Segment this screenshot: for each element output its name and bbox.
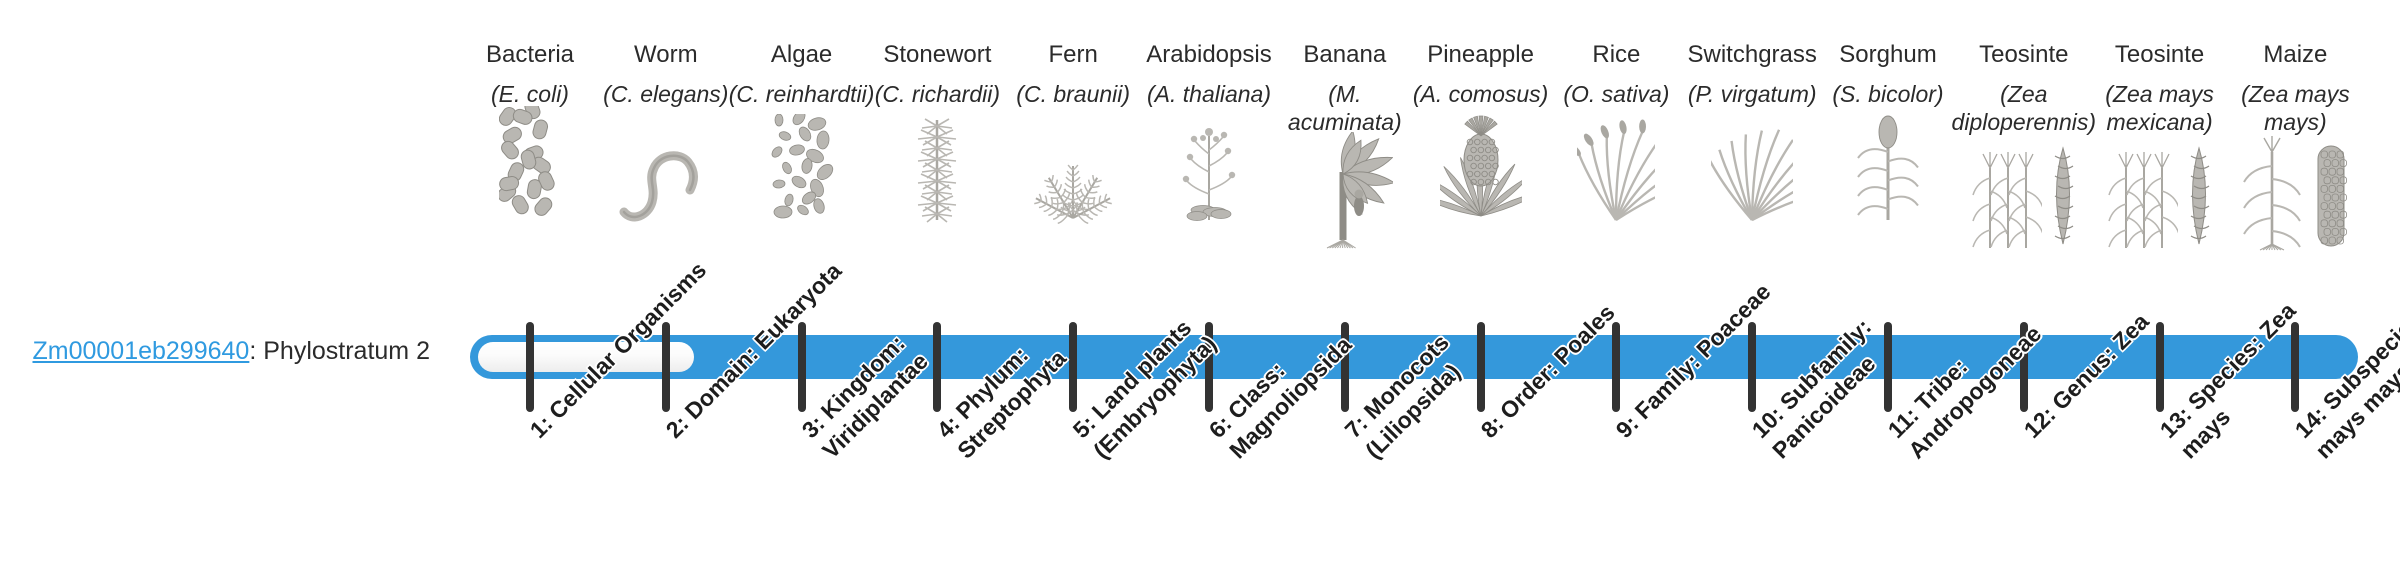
- species-common-name: Maize: [2220, 40, 2370, 70]
- species-column: Maize(Zea mays mays): [2220, 40, 2370, 252]
- species-common-name: Worm: [591, 40, 741, 70]
- species-column: Fern(C. braunii): [998, 40, 1148, 224]
- stonewort-illustration: [862, 114, 1012, 224]
- teosinte-ear-illustration: [2085, 142, 2235, 252]
- species-common-name: Fern: [998, 40, 1148, 70]
- algae-illustration: [727, 114, 877, 224]
- gene-separator: :: [249, 337, 263, 365]
- pineapple-illustration: [1406, 114, 1556, 224]
- species-common-name: Stonewort: [862, 40, 1012, 70]
- maize-ear-illustration: [2220, 142, 2370, 252]
- species-common-name: Sorghum: [1813, 40, 1963, 70]
- species-column: Rice(O. sativa): [1541, 40, 1691, 224]
- arabidopsis-illustration: [1134, 114, 1284, 224]
- species-scientific-name: (C. braunii): [998, 80, 1148, 108]
- nematode-illustration: [591, 114, 741, 224]
- species-column: Stonewort(C. richardii): [862, 40, 1012, 224]
- tick-mark: [1748, 322, 1756, 412]
- species-scientific-name: (S. bicolor): [1813, 80, 1963, 108]
- species-column: Teosinte(Zea mays mexicana): [2085, 40, 2235, 252]
- tick-mark: [798, 322, 806, 412]
- rice-illustration: [1541, 114, 1691, 224]
- teosinte-illustration: [1949, 142, 2099, 252]
- species-column: Sorghum(S. bicolor): [1813, 40, 1963, 224]
- species-scientific-name: (A. comosus): [1406, 80, 1556, 108]
- species-common-name: Arabidopsis: [1134, 40, 1284, 70]
- tick-mark: [2156, 322, 2164, 412]
- species-column: Banana(M. acuminata): [1270, 40, 1420, 252]
- rank-name: Species: Zea mays: [2175, 297, 2300, 463]
- species-common-name: Switchgrass: [1677, 40, 1827, 70]
- bacteria-illustration: [455, 114, 605, 224]
- species-common-name: Teosinte: [1949, 40, 2099, 70]
- species-scientific-name: (Zea mays mexicana): [2085, 80, 2235, 136]
- phylostratum-timeline: Zm00001eb299640: Phylostratum 2 Bacteria…: [0, 0, 2400, 580]
- species-column: Arabidopsis(A. thaliana): [1134, 40, 1284, 224]
- fern-illustration: [998, 114, 1148, 224]
- species-scientific-name: (P. virgatum): [1677, 80, 1827, 108]
- species-scientific-name: (C. richardii): [862, 80, 1012, 108]
- species-scientific-name: (A. thaliana): [1134, 80, 1284, 108]
- species-common-name: Algae: [727, 40, 877, 70]
- species-column: Algae(C. reinhardtii): [727, 40, 877, 224]
- gene-id-link[interactable]: Zm00001eb299640: [32, 337, 249, 365]
- phylostratum-value-text: Phylostratum 2: [263, 337, 430, 365]
- species-column: Pineapple(A. comosus): [1406, 40, 1556, 224]
- species-scientific-name: (C. reinhardtii): [727, 80, 877, 108]
- species-column: Switchgrass(P. virgatum): [1677, 40, 1827, 224]
- banana-illustration: [1270, 142, 1420, 252]
- species-column: Worm(C. elegans): [591, 40, 741, 224]
- tick-mark: [526, 322, 534, 412]
- species-scientific-name: (O. sativa): [1541, 80, 1691, 108]
- species-scientific-name: (Zea mays mays): [2220, 80, 2370, 136]
- species-common-name: Pineapple: [1406, 40, 1556, 70]
- species-common-name: Bacteria: [455, 40, 605, 70]
- tick-mark: [662, 322, 670, 412]
- species-column: Teosinte(Zea diploperennis): [1949, 40, 2099, 252]
- species-column: Bacteria(E. coli): [455, 40, 605, 224]
- species-common-name: Banana: [1270, 40, 1420, 70]
- tick-mark: [1612, 322, 1620, 412]
- species-scientific-name: (C. elegans): [591, 80, 741, 108]
- species-scientific-name: (E. coli): [455, 80, 605, 108]
- species-common-name: Teosinte: [2085, 40, 2235, 70]
- gene-phylostratum-label: Zm00001eb299640: Phylostratum 2: [0, 336, 430, 366]
- species-common-name: Rice: [1541, 40, 1691, 70]
- species-scientific-name: (Zea diploperennis): [1949, 80, 2099, 136]
- switchgrass-illustration: [1677, 114, 1827, 224]
- sorghum-illustration: [1813, 114, 1963, 224]
- species-scientific-name: (M. acuminata): [1270, 80, 1420, 136]
